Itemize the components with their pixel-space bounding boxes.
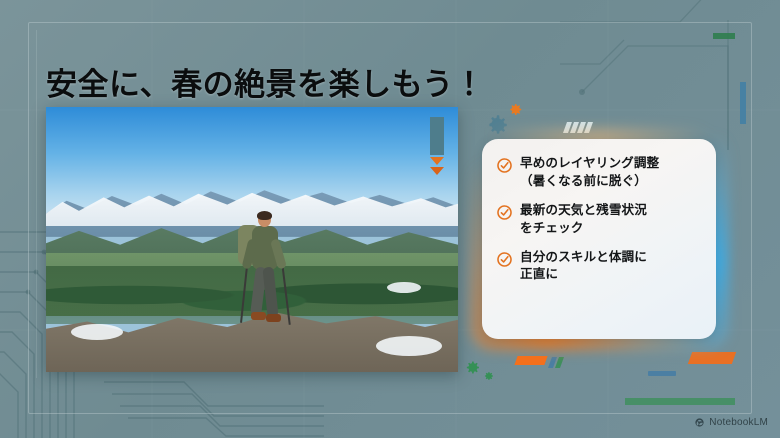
notebooklm-logo-icon — [694, 417, 705, 428]
chevron-down-icon — [430, 167, 444, 175]
list-item-line2: をチェック — [520, 221, 583, 235]
gear-icon-green-small — [481, 369, 495, 383]
hero-photo — [46, 107, 458, 372]
stripe-accent-bottom — [548, 357, 564, 368]
hiker-hair — [257, 211, 272, 220]
check-circle-icon — [496, 204, 513, 221]
photo-snow-patch — [71, 324, 123, 340]
hero-photo-image — [46, 107, 458, 372]
list-item-line1: 自分のスキルと体調に — [520, 250, 647, 264]
photo-marker — [430, 117, 444, 175]
green-dash-accent — [713, 33, 735, 39]
list-item: 自分のスキルと体調に 正直に — [496, 249, 702, 285]
hiker-boot-left — [251, 312, 266, 320]
notebooklm-watermark: NotebookLM — [694, 417, 768, 428]
photo-hiker — [232, 213, 296, 343]
orange-bar-accent — [514, 356, 547, 365]
list-item-line2: 正直に — [520, 267, 558, 281]
list-item-line2: （暑くなる前に脱ぐ） — [520, 174, 647, 188]
chevron-down-icon — [430, 157, 444, 165]
photo-snow-patch — [387, 282, 421, 293]
page-title: 安全に、春の絶景を楽しもう！ — [46, 67, 485, 103]
blue-vertical-accent — [740, 82, 746, 124]
orange-blob-accent — [688, 352, 736, 364]
list-item-line1: 最新の天気と残雪状況 — [520, 203, 647, 217]
gear-icon-orange — [505, 100, 524, 119]
marker-bar — [430, 117, 444, 155]
list-item: 早めのレイヤリング調整 （暑くなる前に脱ぐ） — [496, 155, 702, 191]
hiker-leg-right — [263, 267, 279, 318]
check-circle-icon — [496, 251, 513, 268]
check-circle-icon — [496, 157, 513, 174]
gear-icon-green — [461, 357, 482, 378]
list-item-line1: 早めのレイヤリング調整 — [520, 156, 659, 170]
photo-snow-patch — [376, 336, 442, 356]
notebooklm-watermark-label: NotebookLM — [709, 417, 768, 428]
tips-card: 早めのレイヤリング調整 （暑くなる前に脱ぐ） 最新の天気と残雪状況 をチェック — [482, 139, 716, 339]
green-bar-accent — [625, 398, 735, 405]
list-item-text: 早めのレイヤリング調整 （暑くなる前に脱ぐ） — [520, 155, 659, 191]
list-item-text: 最新の天気と残雪状況 をチェック — [520, 202, 647, 238]
blue-dash-accent — [648, 371, 676, 376]
slide: 安全に、春の絶景を楽しもう！ — [0, 0, 780, 438]
hiker-boot-right — [266, 314, 281, 322]
list-item-text: 自分のスキルと体調に 正直に — [520, 249, 647, 285]
list-item: 最新の天気と残雪状況 をチェック — [496, 202, 702, 238]
